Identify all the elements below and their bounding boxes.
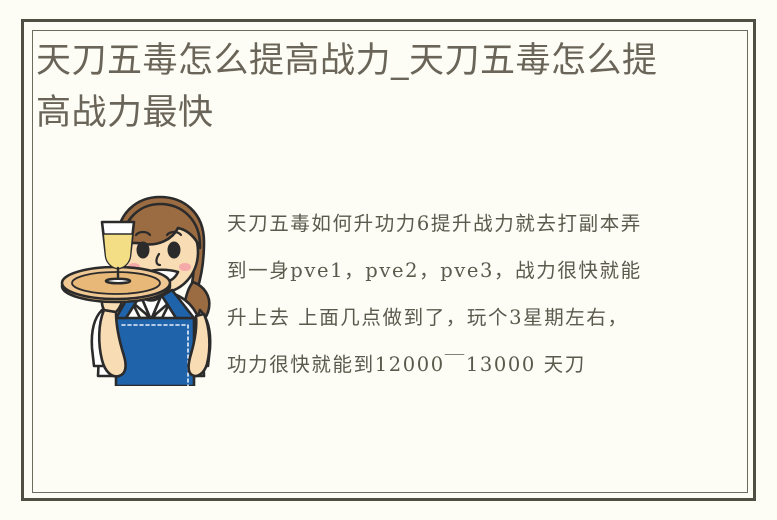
page-title: 天刀五毒怎么提高战力_天刀五毒怎么提高战力最快 (36, 36, 676, 140)
article-body-text: 天刀五毒如何升功力6提升战力就去打副本弄到一身pve1，pve2，pve3，战力… (227, 200, 647, 388)
article-page: 天刀五毒怎么提高战力_天刀五毒怎么提高战力最快 (0, 0, 777, 520)
waitress-with-tray-illustration (54, 190, 229, 386)
article-content: 天刀五毒如何升功力6提升战力就去打副本弄到一身pve1，pve2，pve3，战力… (14, 172, 763, 514)
